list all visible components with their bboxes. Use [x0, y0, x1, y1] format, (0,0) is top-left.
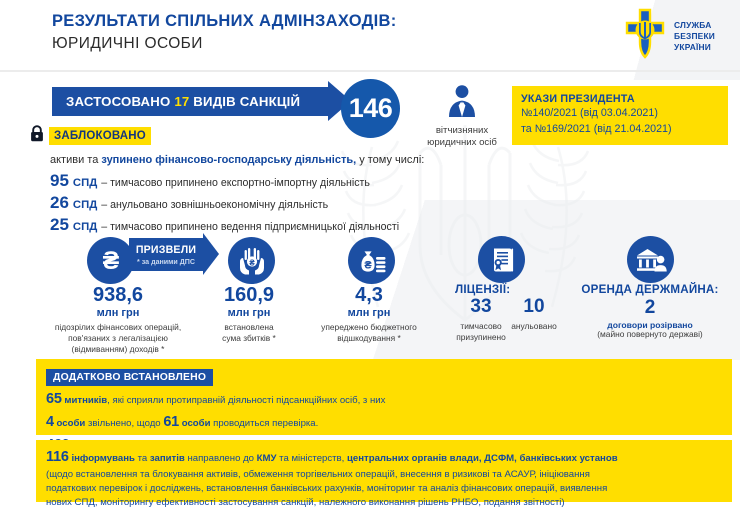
requests-bold-4: центральних органів влади, ДСФМ, банківс…	[347, 453, 618, 464]
person-icon	[444, 105, 480, 122]
header: РЕЗУЛЬТАТИ СПІЛЬНИХ АДМІНЗАХОДІВ: ЮРИДИЧ…	[0, 0, 740, 72]
licenses-heading: ЛІЦЕНЗІЇ:	[455, 283, 510, 296]
sbu-logo-line-1: СЛУЖБА	[674, 20, 715, 31]
decree-line-2: та №169/2021 (від 21.04.2021)	[521, 122, 719, 137]
sbu-logo-text: СЛУЖБА БЕЗПЕКИ УКРАЇНИ	[674, 20, 715, 52]
pryzvely-note: * за даними ДПС	[137, 258, 195, 266]
money-bag-icon: ₴	[348, 237, 395, 284]
banner-count: 17	[174, 94, 189, 109]
presidential-decrees-box: УКАЗИ ПРЕЗИДЕНТА №140/2021 (від 03.04.20…	[512, 86, 728, 145]
sanctions-banner-text: ЗАСТОСОВАНО 17 ВИДІВ САНКЦІЙ	[66, 94, 300, 109]
total-entities-circle: 146	[341, 79, 400, 138]
sbu-logo-line-2: БЕЗПЕКИ	[674, 31, 715, 42]
entities-caption-block: вітчизняних юридичних осіб	[406, 84, 518, 150]
license-desc-line-1: анульовано	[505, 321, 563, 332]
rent-heading: ОРЕНДА ДЕРЖМАЙНА:	[570, 283, 730, 296]
spd-row: 95 СПД – тимчасово припинено експортно-і…	[50, 172, 520, 189]
requests-bold-1: інформувань	[71, 453, 134, 464]
svg-text:₴: ₴	[249, 258, 255, 267]
spd-number: 25	[50, 216, 69, 233]
license-item: 33 тимчасово призупинено	[452, 297, 510, 343]
pryzvely-label: ПРИЗВЕЛИ	[136, 244, 196, 256]
customs-label: митників	[64, 395, 107, 406]
assets-section: активи та зупинено фінансово-господарськ…	[50, 153, 520, 233]
svg-text:₴: ₴	[364, 259, 372, 271]
spd-unit: СПД	[73, 221, 97, 233]
certificate-icon	[478, 236, 525, 283]
spd-description: – тимчасово припинено ведення підприємни…	[101, 221, 399, 233]
license-description: анульовано	[505, 321, 563, 332]
blocked-badge: ЗАБЛОКОВАНО	[49, 127, 151, 145]
decree-line-1: №140/2021 (від 03.04.2021)	[521, 106, 719, 121]
svg-text:₴: ₴	[102, 247, 119, 275]
assets-lead-plain-1: активи та	[50, 154, 101, 166]
requests-text-2: направлено до	[185, 453, 257, 464]
stat-desc-line-2: пов'язаних з легалізацією	[28, 333, 208, 344]
title-secondary: ЮРИДИЧНІ ОСОБИ	[52, 35, 397, 53]
stat-column: 160,9 млн грн встановлена сума збитків *	[189, 284, 309, 344]
stat-value: 938,6	[28, 284, 208, 306]
requests-box: 116 інформувань та запитів направлено до…	[36, 440, 732, 502]
sanctions-banner: ЗАСТОСОВАНО 17 ВИДІВ САНКЦІЙ	[52, 87, 328, 116]
assets-lead-plain-2: у тому числі:	[356, 154, 424, 166]
sbu-emblem-icon	[622, 8, 668, 65]
stat-unit: млн грн	[189, 307, 309, 319]
rent-value: 2	[570, 297, 730, 319]
stat-desc-line-1: встановлена	[189, 322, 309, 333]
additional-line-2: 4 особи звільнено, щодо 61 особи проводи…	[46, 412, 722, 432]
spd-row: 25 СПД – тимчасово припинено ведення під…	[50, 216, 520, 233]
stat-value: 4,3	[304, 284, 434, 306]
entities-caption-line-1: вітчизняних	[406, 125, 518, 137]
spd-unit: СПД	[73, 199, 97, 211]
sbu-logo-line-3: УКРАЇНИ	[674, 42, 715, 53]
requests-text-1: та	[135, 453, 150, 464]
stat-desc-line-1: упереджено бюджетного	[304, 322, 434, 333]
requests-line-3: податкових перевірок і досліджень, встан…	[46, 482, 722, 495]
customs-rest: , які сприяли протиправній діяльності пі…	[107, 395, 385, 406]
checked-rest: проводиться перевірка.	[210, 418, 318, 429]
stat-unit: млн грн	[28, 307, 208, 319]
requests-bold-3: КМУ	[257, 453, 277, 464]
stat-desc-line-3: (відмиванням) доходів *	[28, 344, 208, 355]
assets-lead-bold: зупинено фінансово-господарську діяльніс…	[101, 154, 356, 166]
additional-badge: ДОДАТКОВО ВСТАНОВЛЕНО	[46, 369, 213, 386]
spd-number: 95	[50, 172, 69, 189]
stat-desc-line-1: підозрілих фінансових операцій,	[28, 322, 208, 333]
stat-value: 160,9	[189, 284, 309, 306]
stat-column: 938,6 млн грн підозрілих фінансових опер…	[28, 284, 208, 355]
dismissed-mid: звільнено, щодо	[85, 418, 163, 429]
decrees-title: УКАЗИ ПРЕЗИДЕНТА	[521, 93, 719, 105]
stat-unit: млн грн	[304, 307, 434, 319]
license-desc-line-2: призупинено	[452, 332, 510, 343]
license-number: 33	[452, 297, 510, 318]
spd-description: – тимчасово припинено експортно-імпортну…	[101, 177, 370, 189]
hryvnia-coin-icon: ₴	[87, 237, 134, 284]
dismissed-count: 4	[46, 414, 54, 430]
requests-line-2: (щодо встановлення та блокування активів…	[46, 468, 722, 481]
page-title: РЕЗУЛЬТАТИ СПІЛЬНИХ АДМІНЗАХОДІВ: ЮРИДИЧ…	[52, 12, 397, 53]
banner-prefix: ЗАСТОСОВАНО	[66, 94, 170, 109]
checked-count: 61	[163, 414, 179, 430]
spd-number: 26	[50, 194, 69, 211]
stat-desc-line-2: сума збитків *	[189, 333, 309, 344]
stat-description: встановлена сума збитків *	[189, 322, 309, 344]
entities-caption: вітчизняних юридичних осіб	[406, 125, 518, 150]
additional-line-1: 65 митників, які сприяли протиправній ді…	[46, 389, 722, 409]
stat-description: упереджено бюджетного відшкодування *	[304, 322, 434, 344]
checked-label: особи	[182, 418, 211, 429]
license-number: 10	[505, 297, 563, 318]
license-item: 10 анульовано	[505, 297, 563, 332]
spd-description: – анульовано зовнішньоекономічну діяльні…	[101, 199, 328, 211]
requests-line-1: 116 інформувань та запитів направлено до…	[46, 447, 722, 467]
banner-suffix: ВИДІВ САНКЦІЙ	[193, 94, 300, 109]
hands-holding-coin-icon: ₴	[228, 237, 275, 284]
infographic-page: РЕЗУЛЬТАТИ СПІЛЬНИХ АДМІНЗАХОДІВ: ЮРИДИЧ…	[0, 0, 740, 509]
requests-count: 116	[46, 449, 69, 465]
stat-desc-line-2: відшкодування *	[304, 333, 434, 344]
title-primary: РЕЗУЛЬТАТИ СПІЛЬНИХ АДМІНЗАХОДІВ:	[52, 12, 397, 31]
stat-column: 4,3 млн грн упереджено бюджетного відшко…	[304, 284, 434, 344]
spd-row: 26 СПД – анульовано зовнішньоекономічну …	[50, 194, 520, 211]
customs-count: 65	[46, 391, 62, 407]
entities-caption-line-2: юридичних осіб	[406, 137, 518, 149]
dismissed-label: особи	[57, 418, 86, 429]
stat-description: підозрілих фінансових операцій, пов'язан…	[28, 322, 208, 355]
rent-note: (майно повернуто державі)	[565, 329, 735, 339]
assets-lead: активи та зупинено фінансово-господарськ…	[50, 153, 520, 167]
lock-icon	[30, 125, 44, 147]
license-description: тимчасово призупинено	[452, 321, 510, 343]
sbu-logo: СЛУЖБА БЕЗПЕКИ УКРАЇНИ	[622, 8, 715, 65]
license-desc-line-1: тимчасово	[452, 321, 510, 332]
blocked-row: ЗАБЛОКОВАНО	[30, 125, 151, 147]
requests-line-4: нових СПД, моніторингу ефективності заст…	[46, 496, 722, 509]
government-building-icon	[627, 236, 674, 283]
pryzvely-arrow: ПРИЗВЕЛИ * за даними ДПС	[129, 238, 203, 271]
requests-bold-2: запитів	[150, 453, 185, 464]
spd-unit: СПД	[73, 177, 97, 189]
requests-text-3: та міністерств,	[277, 453, 347, 464]
additional-findings-box: ДОДАТКОВО ВСТАНОВЛЕНО 65 митників, які с…	[36, 359, 732, 435]
